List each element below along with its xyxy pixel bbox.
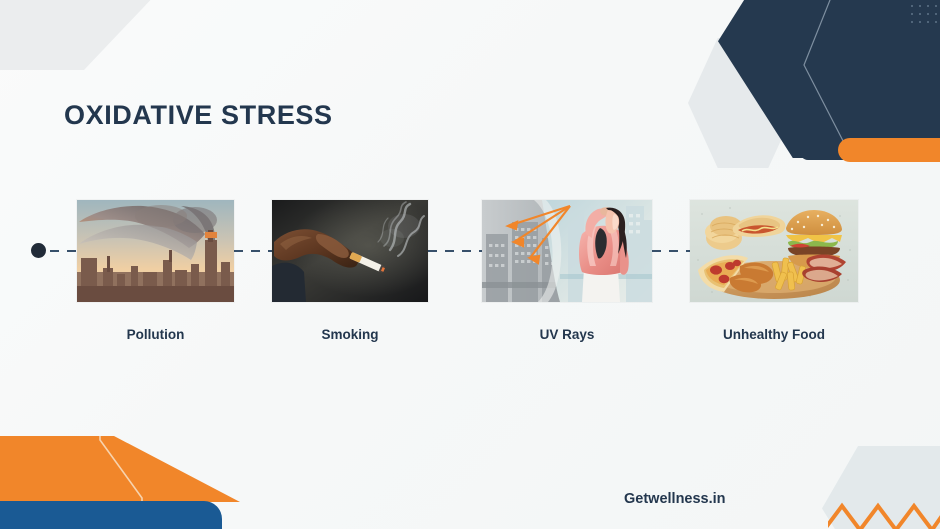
timeline-dash-segment (428, 250, 482, 252)
top-left-gray-wedge (0, 0, 160, 70)
footer-brand: Getwellness.in (624, 491, 726, 507)
page-title: OXIDATIVE STRESS (64, 100, 333, 131)
uv-rays-photo (482, 200, 652, 302)
top-right-dot-grid (908, 2, 940, 28)
uv-rays-caption: UV Rays (482, 327, 652, 342)
slide-canvas: OXIDATIVE STRESS (0, 0, 940, 529)
timeline-dash-segment (50, 250, 78, 252)
bottom-left-orange-shape (0, 436, 240, 502)
timeline-dash-segment (234, 250, 272, 252)
smoking-caption: Smoking (272, 327, 428, 342)
pollution-caption: Pollution (77, 327, 234, 342)
top-right-orange-bar (838, 138, 940, 162)
pollution-photo (77, 200, 234, 302)
smoking-photo (272, 200, 428, 302)
bottom-left-blue-bar (0, 501, 222, 529)
bottom-right-gray-hexagon (822, 446, 940, 529)
unhealthy-food-photo (690, 200, 858, 302)
unhealthy-food-caption: Unhealthy Food (690, 327, 858, 342)
timeline-dash-segment (652, 250, 690, 252)
timeline-start-dot (31, 243, 46, 258)
